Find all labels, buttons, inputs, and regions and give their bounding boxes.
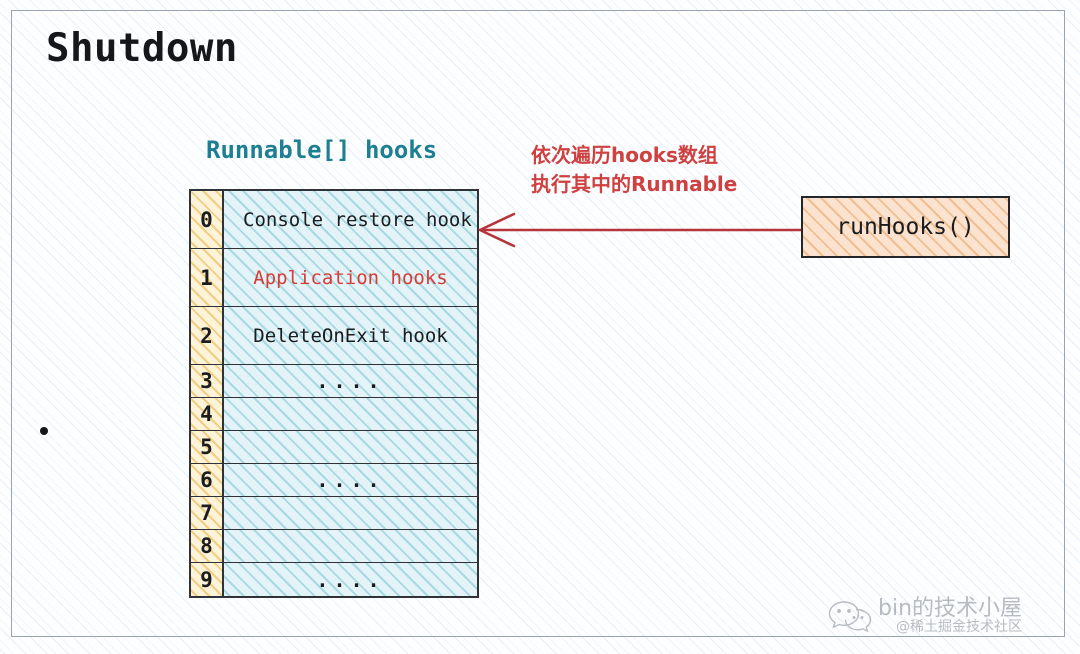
array-label: Runnable[] hooks [206,136,437,164]
row-value-cell: DeleteOnExit hook [224,307,477,364]
annotation-text: 依次遍历hooks数组 执行其中的Runnable [531,141,737,199]
watermark-subtitle: @稀土掘金技术社区 [878,620,1022,635]
table-row: 8 [191,530,477,563]
flow-arrow-icon [470,208,810,252]
wechat-icon [828,599,872,633]
table-row: 0 Console restore hook [191,191,477,249]
table-row: 4 [191,398,477,431]
row-index-cell: 3 [191,365,224,397]
annotation-line-1: 依次遍历hooks数组 [531,141,737,170]
row-value-cell [224,431,477,463]
annotation-line-2: 执行其中的Runnable [531,170,737,199]
row-value-cell [224,530,477,562]
table-row: 9 .... [191,563,477,596]
table-row: 2 DeleteOnExit hook [191,307,477,365]
row-index-cell: 4 [191,398,224,430]
row-value-cell [224,398,477,430]
table-row: 7 [191,497,477,530]
row-index-cell: 8 [191,530,224,562]
row-index-cell: 0 [191,191,224,248]
row-index-cell: 9 [191,563,224,596]
hooks-array-table: 0 Console restore hook 1 Application hoo… [189,189,479,598]
page-border-frame [11,10,1065,637]
page-title: Shutdown [46,26,238,71]
table-row: 1 Application hooks [191,249,477,307]
table-row: 5 [191,431,477,464]
runhooks-label: runHooks() [836,214,974,240]
row-index-cell: 5 [191,431,224,463]
diagram-canvas: Shutdown Runnable[] hooks 0 Console rest… [0,0,1080,654]
runhooks-node: runHooks() [801,196,1010,258]
row-value-cell: Console restore hook [224,191,477,248]
row-index-cell: 7 [191,497,224,529]
bullet-dot [40,427,48,435]
table-row: 3 .... [191,365,477,398]
row-index-cell: 6 [191,464,224,496]
row-value-cell: .... [224,365,477,397]
watermark-title: bin的技术小屋 [878,597,1022,620]
table-row: 6 .... [191,464,477,497]
row-index-cell: 1 [191,249,224,306]
row-value-cell [224,497,477,529]
row-value-cell: Application hooks [224,249,477,306]
row-value-cell: .... [224,464,477,496]
watermark: bin的技术小屋 @稀土掘金技术社区 [828,597,1022,635]
row-value-cell: .... [224,563,477,596]
watermark-text: bin的技术小屋 @稀土掘金技术社区 [878,597,1022,635]
row-index-cell: 2 [191,307,224,364]
